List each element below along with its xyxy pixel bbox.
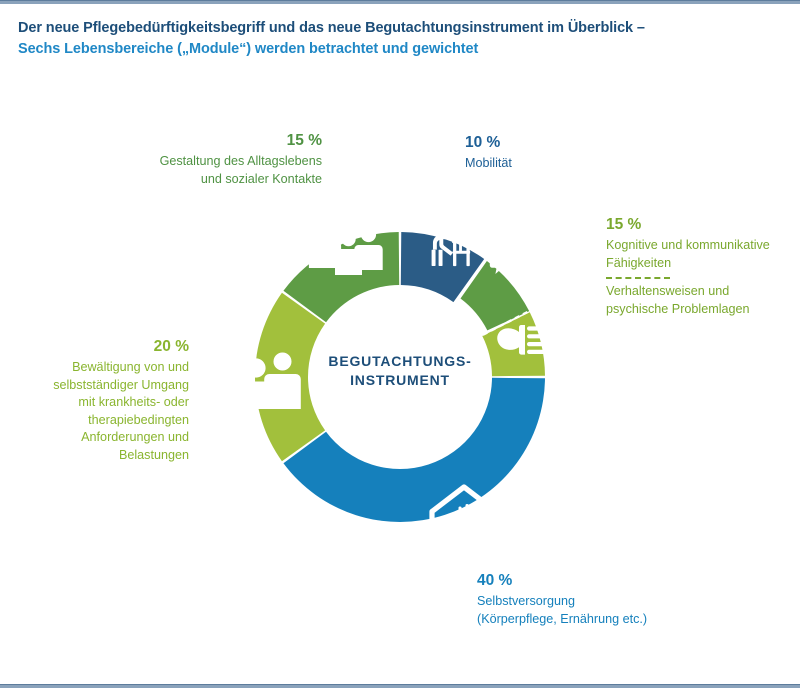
callout-kognitive: 15 % Kognitive und kommunikative Fähigke… bbox=[606, 214, 800, 318]
callout-selbstversorgung: 40 % Selbstversorgung (Körperpflege, Ern… bbox=[477, 570, 777, 628]
callout-bewaeltigung-line-3: mit krankheits- oder bbox=[24, 394, 189, 412]
infographic-page: Der neue Pflegebedürftigkeitsbegriff und… bbox=[0, 0, 800, 691]
callout-gestaltung-line-1: Gestaltung des Alltagslebens bbox=[76, 153, 322, 171]
callout-bewaeltigung-line-5: Anforderungen und bbox=[24, 429, 189, 447]
callout-bewaeltigung-line-1: Bewältigung von und bbox=[24, 359, 189, 377]
callout-mobilitaet-percent: 10 % bbox=[465, 132, 665, 154]
callout-gestaltung-percent: 15 % bbox=[76, 130, 322, 152]
callout-bewaeltigung-line-6: Belastungen bbox=[24, 447, 189, 465]
callout-kognitive-line-3: Verhaltensweisen und bbox=[606, 283, 800, 301]
callout-kognitive-percent: 15 % bbox=[606, 214, 800, 236]
callout-mobilitaet: 10 % Mobilität bbox=[465, 132, 665, 173]
callout-bewaeltigung-line-2: selbstständiger Umgang bbox=[24, 377, 189, 395]
callout-bewaeltigung: 20 % Bewältigung von und selbstständiger… bbox=[24, 336, 189, 464]
callout-selbstversorgung-percent: 40 % bbox=[477, 570, 777, 592]
callout-mobilitaet-line-1: Mobilität bbox=[465, 155, 665, 173]
callout-selbstversorgung-line-2: (Körperpflege, Ernährung etc.) bbox=[477, 611, 777, 629]
callout-bewaeltigung-percent: 20 % bbox=[24, 336, 189, 358]
segment-selbstversorgung[interactable] bbox=[283, 378, 545, 522]
callout-kognitive-line-2: Fähigkeiten bbox=[606, 255, 800, 273]
callout-gestaltung-line-2: und sozialer Kontakte bbox=[76, 171, 322, 189]
callout-selbstversorgung-line-1: Selbstversorgung bbox=[477, 593, 777, 611]
callout-kognitive-line-4: psychische Problemlagen bbox=[606, 301, 800, 319]
callout-kognitive-dashed-separator bbox=[606, 277, 670, 279]
callout-kognitive-line-1: Kognitive und kommunikative bbox=[606, 237, 800, 255]
callout-bewaeltigung-line-4: therapiebedingten bbox=[24, 412, 189, 430]
callout-gestaltung: 15 % Gestaltung des Alltagslebens und so… bbox=[76, 130, 322, 188]
